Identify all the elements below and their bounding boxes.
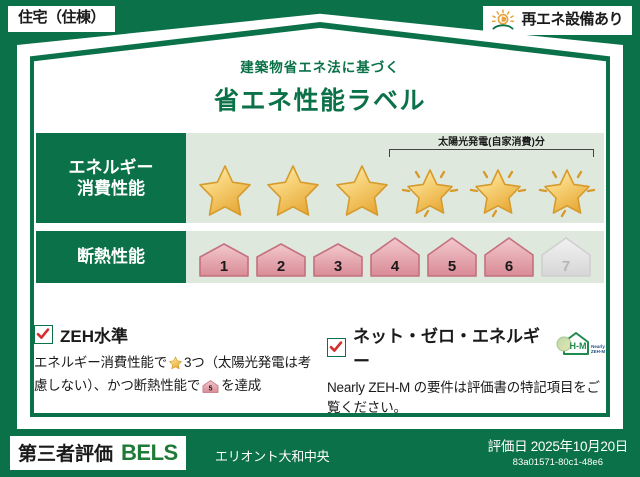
label-subtitle: 建築物省エネ法に基づく [0,56,640,76]
zeh-note-body: エネルギー消費性能で3つ（太陽光発電は考慮しない）、かつ断熱性能で5を達成 [34,353,313,399]
label-title-block: 建築物省エネ法に基づく 省エネ性能ラベル [0,56,640,117]
energy-performance-label-box: エネルギー 消費性能 [36,133,186,223]
insulation-level-7-number: 7 [539,258,593,275]
zeh-body-part1: エネルギー消費性能で [34,355,167,370]
insulation-level-5: 5 [425,235,479,279]
insulation-level-1-number: 1 [197,258,251,275]
insulation-level-5-number: 5 [425,258,479,275]
star-4-solar [399,160,461,218]
performance-rows: エネルギー 消費性能 太陽光発電(自家消費)分 [36,133,604,291]
evaluation-info: 評価日 2025年10月20日 83a01571-80c1-48e6 [488,435,628,468]
insulation-level-group: 1 2 3 [186,235,604,279]
energy-label-line1: エネルギー [69,157,154,178]
zeh-body-part3: を達成 [221,378,261,393]
star-1 [194,160,256,218]
insulation-level-4-number: 4 [368,258,422,275]
insulation-performance-row: 断熱性能 [36,231,604,283]
building-name: エリオント大和中央 [215,446,329,465]
insulation-level-7: 7 [539,235,593,279]
bels-en-label: BELS [121,440,178,466]
zeh-body-star-count: 3つ [184,355,205,370]
insulation-scale-area: 1 2 3 [186,231,604,283]
evaluation-id: 83a01571-80c1-48e6 [488,457,628,468]
check-icon [36,327,50,341]
star-5-solar [467,160,529,218]
insulation-label: 断熱性能 [77,246,145,267]
zeh-note-header: ZEH水準 [34,322,313,347]
star-3 [331,160,393,218]
renewable-equipment-tag: 再エネ設備あり [483,6,632,35]
netzero-note-header: ネット・ゼロ・エネルギー H-M Nearly ZEH- [327,322,606,372]
svg-text:H-M: H-M [570,341,587,351]
netzero-note-column: ネット・ゼロ・エネルギー H-M Nearly ZEH- [327,322,606,417]
house-type-tag: 住宅（住棟） [8,6,115,32]
netzero-note-body: Nearly ZEH-M の要件は評価書の特記項目をご覧ください。 [327,378,606,417]
star-rating-group [186,134,604,222]
insulation-level-2-number: 2 [254,258,308,275]
sun-renewable-icon [490,9,516,31]
netzero-note-title: ネット・ゼロ・エネルギー [353,322,545,372]
zeh-note-title: ZEH水準 [60,322,128,347]
star-2 [262,160,324,218]
zeh-note-column: ZEH水準 エネルギー消費性能で3つ（太陽光発電は考慮しない）、かつ断熱性能で5… [34,322,313,417]
energy-performance-row: エネルギー 消費性能 太陽光発電(自家消費)分 [36,133,604,223]
inline-house-icon: 5 [202,379,219,400]
svg-text:5: 5 [209,385,213,392]
zeh-m-logo: H-M Nearly ZEH-M [554,330,606,365]
energy-label-line2: 消費性能 [77,178,145,199]
insulation-level-1: 1 [197,241,251,279]
energy-performance-label: 住宅（住棟） 再エネ設備あり 建築物省エネ法に基づく [0,0,640,477]
insulation-performance-label-box: 断熱性能 [36,231,186,283]
insulation-level-6: 6 [482,235,536,279]
star-6-solar [536,160,598,218]
svg-text:ZEH-M: ZEH-M [591,349,605,354]
insulation-level-4: 4 [368,235,422,279]
check-icon [329,340,343,354]
bels-badge: 第三者評価 BELS [10,436,186,470]
insulation-level-3-number: 3 [311,258,365,275]
insulation-level-2: 2 [254,241,308,279]
insulation-level-3: 3 [311,241,365,279]
bottom-bar: 第三者評価 BELS エリオント大和中央 評価日 2025年10月20日 83a… [0,429,640,477]
zeh-checkbox [34,325,53,344]
evaluation-date: 評価日 2025年10月20日 [488,435,628,455]
label-main-title: 省エネ性能ラベル [0,81,640,117]
inline-star-icon [168,355,183,376]
bels-jp-label: 第三者評価 [18,439,113,466]
notes-section: ZEH水準 エネルギー消費性能で3つ（太陽光発電は考慮しない）、かつ断熱性能で5… [34,322,606,417]
energy-star-rating-area: 太陽光発電(自家消費)分 [186,133,604,223]
netzero-checkbox [327,338,346,357]
house-type-label: 住宅（住棟） [18,9,105,26]
renewable-equipment-label: 再エネ設備あり [521,12,623,29]
insulation-level-6-number: 6 [482,258,536,275]
